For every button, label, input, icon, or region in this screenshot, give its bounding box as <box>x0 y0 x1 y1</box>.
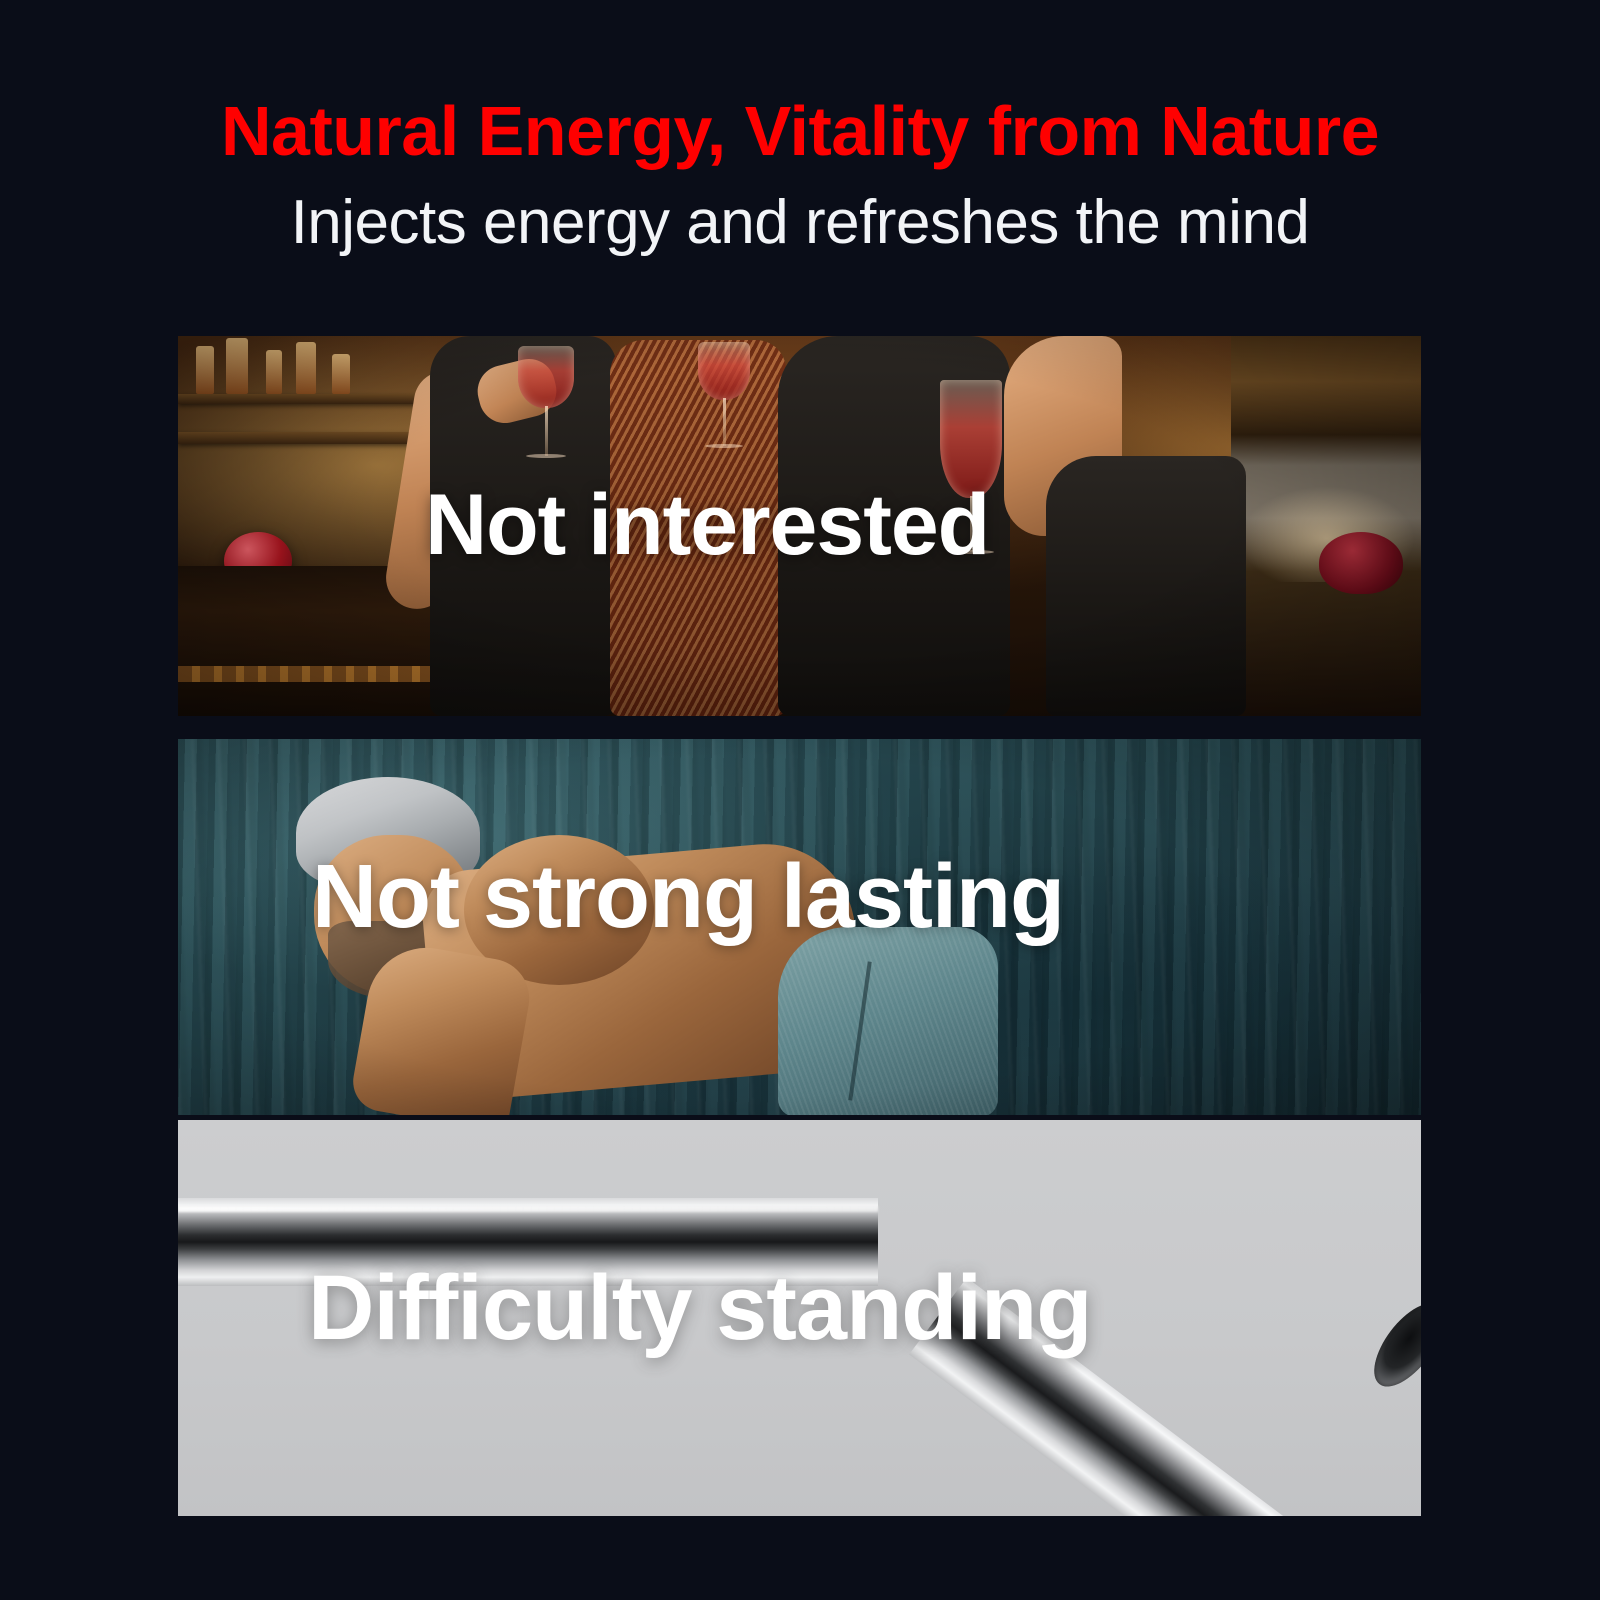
poster-canvas: Natural Energy, Vitality from Nature Inj… <box>0 0 1600 1600</box>
page-headline: Natural Energy, Vitality from Nature <box>0 96 1600 166</box>
caption-not-interested: Not interested <box>425 482 989 568</box>
caption-difficulty-standing: Difficulty standing <box>308 1262 1091 1354</box>
chrome-tube-highlight <box>178 1206 878 1212</box>
page-subhead: Injects energy and refreshes the mind <box>0 192 1600 254</box>
caption-not-strong-lasting: Not strong lasting <box>312 852 1064 942</box>
